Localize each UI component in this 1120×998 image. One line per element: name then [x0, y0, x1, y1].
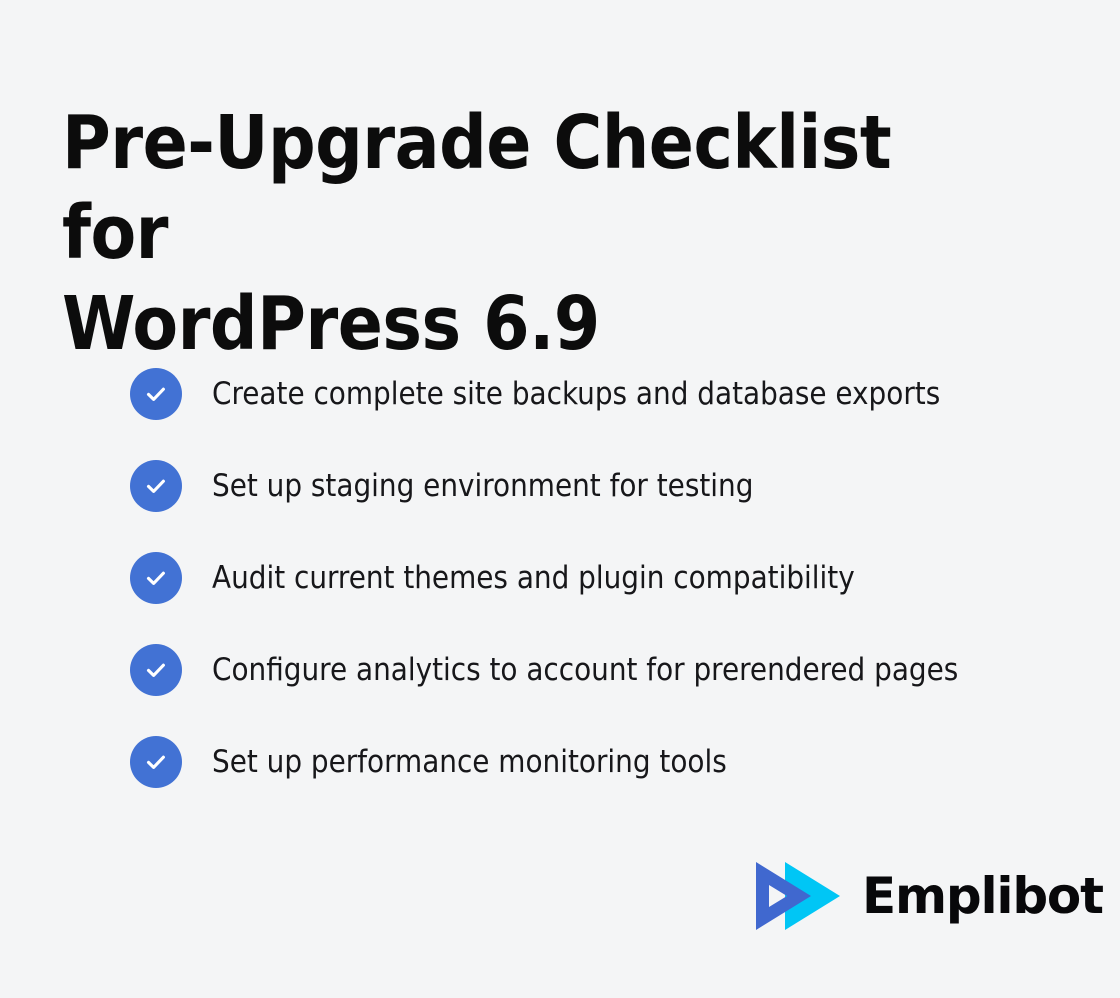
page-title: Pre-Upgrade Checklist for WordPress 6.9 [62, 98, 962, 369]
brand-wordmark: Emplibot [862, 871, 1103, 921]
list-item: Audit current themes and plugin compatib… [130, 552, 1090, 604]
check-circle-icon [130, 552, 182, 604]
list-item-label: Audit current themes and plugin compatib… [212, 561, 855, 595]
check-circle-icon [130, 368, 182, 420]
list-item: Create complete site backups and databas… [130, 368, 1090, 420]
brand-logo: Emplibot [752, 860, 1103, 932]
list-item: Set up performance monitoring tools [130, 736, 1090, 788]
checklist: Create complete site backups and databas… [130, 368, 1090, 788]
list-item: Configure analytics to account for prere… [130, 644, 1090, 696]
list-item-label: Configure analytics to account for prere… [212, 653, 958, 687]
list-item-label: Set up performance monitoring tools [212, 745, 727, 779]
check-circle-icon [130, 460, 182, 512]
title-block: Pre-Upgrade Checklist for WordPress 6.9 [62, 98, 962, 369]
double-play-triangle-icon [752, 860, 844, 932]
list-item-label: Set up staging environment for testing [212, 469, 753, 503]
list-item: Set up staging environment for testing [130, 460, 1090, 512]
check-circle-icon [130, 644, 182, 696]
checklist-infographic-card: Pre-Upgrade Checklist for WordPress 6.9 … [0, 0, 1120, 998]
list-item-label: Create complete site backups and databas… [212, 377, 940, 411]
check-circle-icon [130, 736, 182, 788]
